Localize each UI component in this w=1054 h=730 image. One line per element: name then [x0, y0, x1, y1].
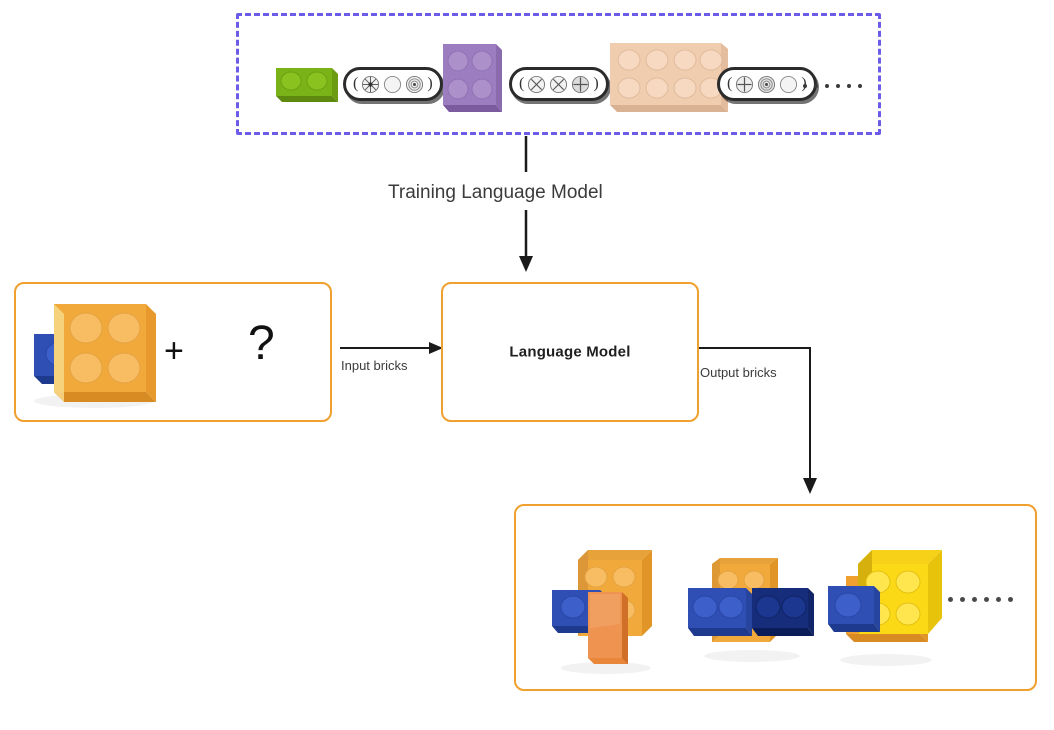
plus-symbol: + [164, 334, 184, 368]
paren-close: ) [427, 76, 432, 92]
paren-open: ( [519, 76, 524, 92]
question-mark-symbol: ? [248, 320, 275, 368]
plus-in-circle-icon [571, 75, 590, 94]
paren-close: ) [593, 76, 598, 92]
corpus-item-token-capsule-1: ( ) [343, 67, 443, 101]
corpus-item-token-capsule-3: ( ) [717, 67, 817, 101]
input-bricks-panel: + ? [14, 282, 332, 422]
corpus-ellipsis [803, 84, 862, 88]
language-model-box: Language Model [441, 282, 699, 422]
plus-in-circle-icon [735, 75, 754, 94]
training-corpus-box: ( ) [236, 13, 881, 135]
corpus-item-peach-brick-4x2 [607, 39, 728, 121]
paren-open: ( [727, 76, 732, 92]
paren-open: ( [353, 76, 358, 92]
corpus-item-green-brick-2x1 [272, 62, 338, 109]
x-in-circle-icon [549, 75, 568, 94]
output-assembly-3 [824, 548, 949, 673]
training-label: Training Language Model [388, 182, 603, 204]
diagram-canvas: ( ) [0, 0, 1054, 730]
output-bricks-label: Output bricks [700, 365, 777, 380]
concentric-circle-icon [405, 75, 424, 94]
input-brick-group [24, 296, 164, 416]
output-assembly-2 [686, 556, 816, 671]
x-in-circle-icon [527, 75, 546, 94]
corpus-item-purple-brick-2x2 [440, 39, 502, 121]
corpus-item-token-capsule-2: ( ) [509, 67, 609, 101]
language-model-label: Language Model [443, 344, 697, 361]
concentric-circle-icon [757, 75, 776, 94]
output-assembly-1 [548, 548, 668, 681]
empty-circle-icon [383, 75, 402, 94]
empty-circle-icon [779, 75, 798, 94]
asterisk-in-circle-icon [361, 75, 380, 94]
output-ellipsis [948, 597, 1013, 602]
input-bricks-label: Input bricks [341, 358, 407, 373]
